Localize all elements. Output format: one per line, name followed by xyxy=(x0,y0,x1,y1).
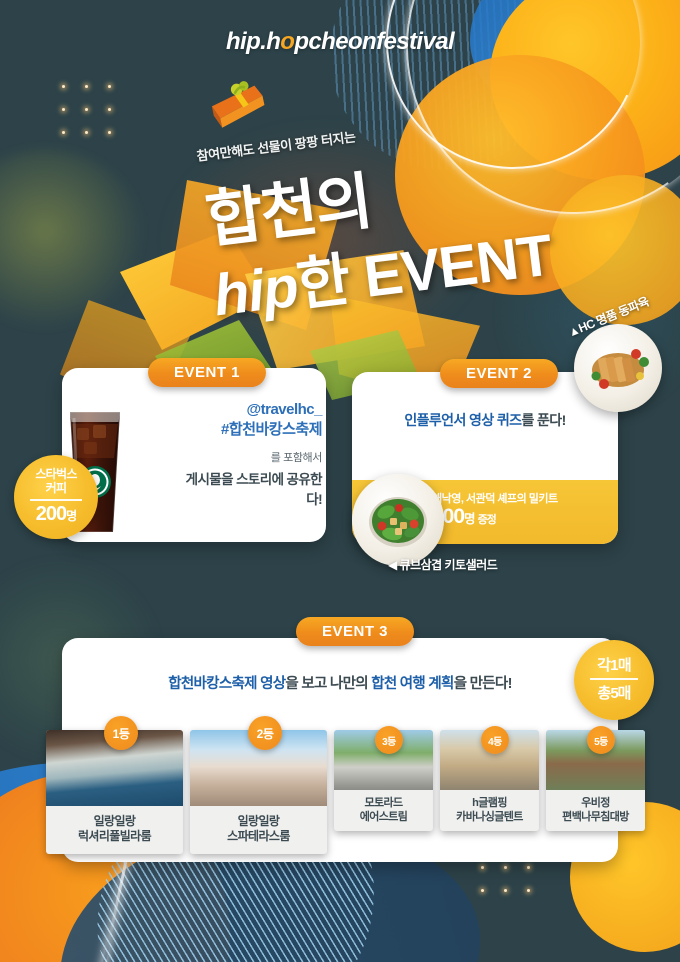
dot-grid-top-left xyxy=(62,85,111,134)
rank-badge-5: 5등 xyxy=(587,726,615,754)
event-1-handle: @travelhc_ xyxy=(172,400,322,420)
event-1-badge: EVENT 1 xyxy=(148,358,266,387)
logo-accent-o: o xyxy=(280,28,294,55)
prize-caption-5: 우비정 편백나무침대방 xyxy=(546,790,645,831)
salad-dish-photo xyxy=(352,474,444,566)
starbucks-prize-count: 200명 xyxy=(36,503,76,526)
event-1-text: @travelhc_ #합천바캉스축제 를 포함해서 게시물을 스토리에 공유한… xyxy=(172,400,322,508)
prize-caption-1-line1: 일랑일랑 xyxy=(94,814,136,828)
ticket-count-badge: 각1매 총5매 xyxy=(574,640,654,720)
logo-text-b: pcheonfestival xyxy=(294,28,454,55)
ticket-count-each: 각1매 xyxy=(597,657,631,674)
mealkit-count-unit: 명 xyxy=(464,512,475,526)
starbucks-prize-label: 스타벅스커피 xyxy=(35,468,76,496)
prize-caption-2-line1: 일랑일랑 xyxy=(238,814,280,828)
event-2-mealkit-line: 채낙영, 서관덕 셰프의 밀키트 xyxy=(432,490,612,506)
prize-caption-3: 모토라드 에어스트림 xyxy=(334,790,433,831)
event-2-mealkit-count: 100명증정 xyxy=(432,505,612,529)
hero-hip-word: hip xyxy=(210,254,301,329)
starbucks-count-unit: 명 xyxy=(66,509,76,523)
event-1-sub: 를 포함해서 xyxy=(172,449,322,465)
prize-caption-3-line2: 에어스트림 xyxy=(360,811,408,823)
prize-caption-4: h글램핑 카바나싱글텐트 xyxy=(440,790,539,831)
prize-caption-1-line2: 럭셔리풀빌라룸 xyxy=(78,829,151,843)
mealkit-suffix: 증정 xyxy=(478,514,496,526)
ticket-badge-divider xyxy=(590,678,638,680)
event-1-main: 게시물을 스토리에 공유한다! xyxy=(172,468,322,508)
prize-list: 일랑일랑 럭셔리풀빌라룸 일랑일랑 스파테라스룸 모토라드 에어스트림 h글램핑… xyxy=(46,730,636,860)
rank-badge-3: 3등 xyxy=(375,726,403,754)
rank-badge-2: 2등 xyxy=(248,716,282,750)
prize-caption-5-line2: 편백나무침대방 xyxy=(562,811,629,823)
logo-text-a: hip.h xyxy=(226,28,280,55)
event-poster: hip.hopcheonfestival 참여만해도 선물이 팡팡 터지는 합천… xyxy=(0,0,680,962)
prize-caption-4-line2: 카바나싱글텐트 xyxy=(456,811,523,823)
prize-caption-5-line1: 우비정 xyxy=(581,797,610,809)
starbucks-count-number: 200 xyxy=(36,503,66,525)
prize-caption-3-line1: 모토라드 xyxy=(364,797,402,809)
prize-caption-1: 일랑일랑 럭셔리풀빌라룸 xyxy=(46,806,183,854)
event-3-badge: EVENT 3 xyxy=(296,617,414,646)
badge-divider xyxy=(30,499,82,501)
prize-caption-4-line1: h글램핑 xyxy=(472,797,507,809)
event-3-highlight-2: 합천 여행 계획 xyxy=(371,676,454,692)
olive-glow-blob xyxy=(0,150,145,330)
dongpayuk-illustration xyxy=(574,324,662,412)
salad-dish-label: ◀ 큐브삼겹 키토샐러드 xyxy=(388,556,497,573)
event-1-hashtag: #합천바캉스축제 xyxy=(172,420,322,440)
event-2-badge: EVENT 2 xyxy=(440,359,558,388)
event-2-mealkit: 채낙영, 서관덕 셰프의 밀키트 100명증정 xyxy=(432,490,612,529)
keto-salad-illustration xyxy=(352,474,444,566)
festival-logo: hip.hopcheonfestival xyxy=(0,28,680,56)
event-3-text-1: 을 보고 나만의 xyxy=(285,676,371,692)
starbucks-prize-badge: 스타벅스커피 200명 xyxy=(14,455,98,539)
rank-badge-1: 1등 xyxy=(104,716,138,750)
event-3-highlight-1: 합천바캉스축제 영상 xyxy=(168,676,285,692)
event-3-text-2: 을 만든다! xyxy=(454,676,512,692)
rank-badge-4: 4등 xyxy=(481,726,509,754)
event-2-rest: 를 푼다! xyxy=(521,412,565,428)
ticket-count-total: 총5매 xyxy=(598,682,631,703)
event-3-main: 합천바캉스축제 영상을 보고 나만의 합천 여행 계획을 만든다! xyxy=(62,672,618,693)
prize-caption-2: 일랑일랑 스파테라스룸 xyxy=(190,806,327,854)
prize-caption-2-line2: 스파테라스룸 xyxy=(227,829,290,843)
event-2-highlight: 인플루언서 영상 퀴즈 xyxy=(404,412,521,428)
event-2-main: 인플루언서 영상 퀴즈를 푼다! xyxy=(352,410,618,430)
pork-dish-photo xyxy=(574,324,662,412)
hero-han-word: 한 xyxy=(293,247,353,318)
